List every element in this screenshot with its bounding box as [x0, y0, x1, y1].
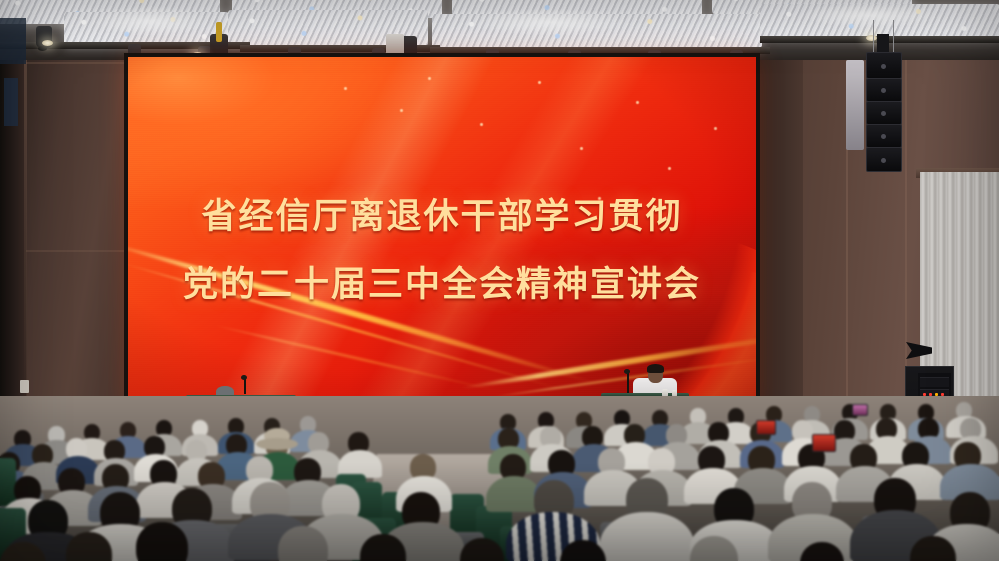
speaker-suspension-wire — [873, 20, 874, 54]
speaker-module — [866, 147, 902, 172]
rack-unit — [920, 377, 949, 387]
screen-title-text: 省经信厅离退休干部学习贯彻 党的二十届三中全会精神宣讲会 — [128, 183, 756, 319]
speaker-suspension-wire — [893, 20, 894, 54]
audience-area — [0, 396, 999, 561]
chandelier-glow — [90, 6, 210, 36]
smartphone-recording — [852, 404, 868, 416]
led-backdrop-screen: 省经信厅离退休干部学习贯彻 党的二十届三中全会精神宣讲会 — [128, 57, 756, 412]
speaker-module — [866, 52, 902, 79]
wall-switch-plate — [20, 380, 29, 393]
smartphone-recording — [756, 420, 776, 435]
speaker-module — [866, 78, 902, 102]
wall-seam — [26, 250, 126, 252]
speaker-module — [866, 101, 902, 125]
seat-back — [0, 458, 16, 506]
ceiling-downlight — [866, 35, 877, 41]
hat-brim — [256, 438, 298, 450]
microphone-stand — [627, 372, 629, 394]
speaker-rigging — [877, 34, 889, 54]
truss-equipment-box — [386, 34, 404, 56]
truss-cable — [216, 22, 222, 42]
screen-title-line-2: 党的二十届三中全会精神宣讲会 — [128, 251, 756, 319]
screen-title-line-1: 省经信厅离退休干部学习贯彻 — [128, 183, 756, 251]
speaker-amplifier-module — [846, 60, 864, 150]
chandelier-glow — [470, 8, 630, 36]
microphone-head — [624, 369, 630, 374]
wall-mounted-panel — [4, 78, 18, 126]
wall-seam — [26, 62, 126, 64]
ceiling-corner-fixture — [0, 18, 26, 64]
smartphone-recording — [812, 434, 836, 452]
chandelier-glow — [800, 2, 940, 28]
speaker-hair — [647, 364, 664, 373]
conference-hall-photo: 省经信厅离退休干部学习贯彻 党的二十届三中全会精神宣讲会 — [0, 0, 999, 561]
wall-seam — [905, 30, 907, 370]
line-array-speaker — [866, 52, 900, 170]
speaker-module — [866, 124, 902, 148]
microphone-head — [241, 375, 247, 380]
ceiling-beam — [430, 47, 770, 54]
ceiling-downlight — [42, 40, 53, 46]
microphone-stand — [244, 378, 246, 394]
person-head — [136, 522, 188, 561]
